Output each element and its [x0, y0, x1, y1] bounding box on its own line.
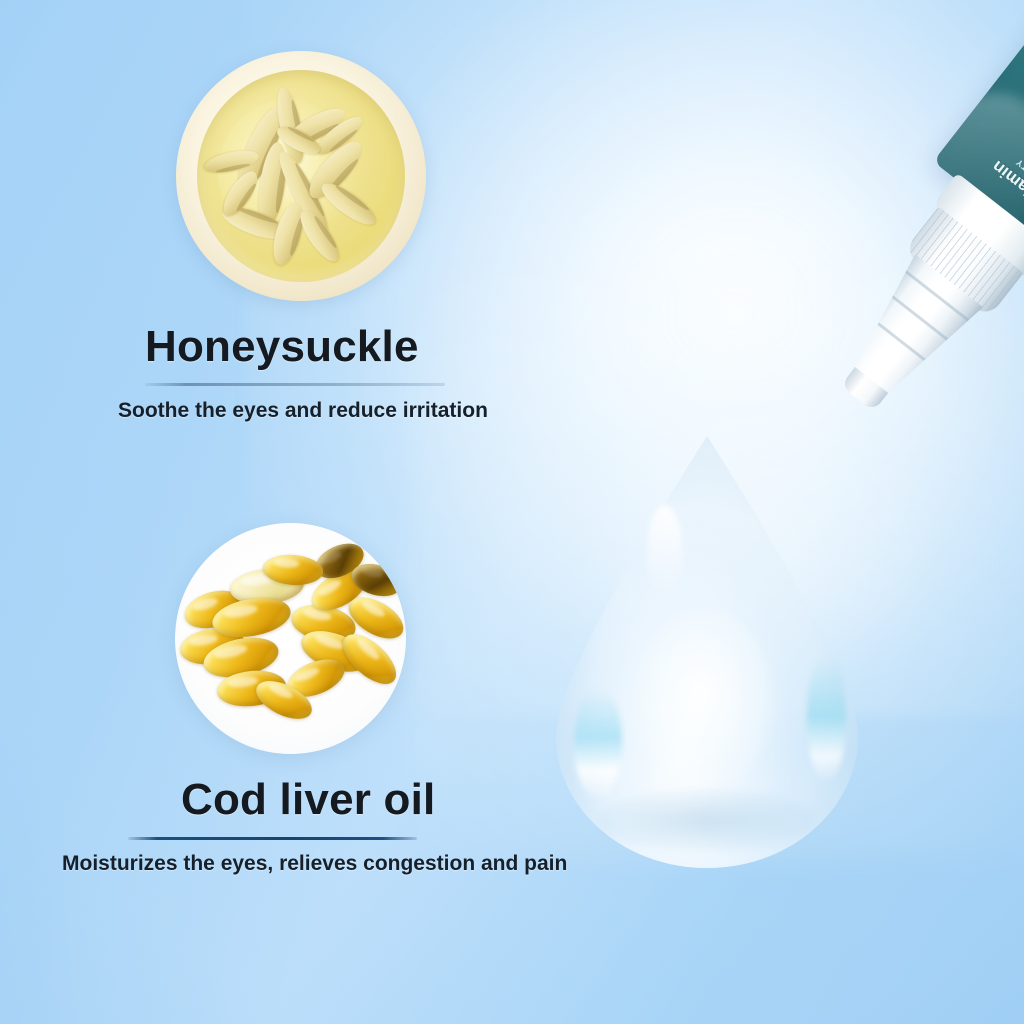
- water-droplet-image: [556, 436, 858, 868]
- ingredient-subtitle: Soothe the eyes and reduce irritation: [118, 399, 488, 423]
- ingredient-block-cod-liver-oil: Cod liver oil Moisturizes the eyes, reli…: [181, 778, 567, 876]
- product-infographic-poster: Honeysuckle Soothe the eyes and reduce i…: [0, 0, 1024, 1024]
- ingredient-divider: [128, 837, 417, 840]
- droplet-core-highlight: [635, 609, 774, 790]
- honeysuckle-bowl-image: [176, 51, 426, 301]
- droplet-base-shadow: [598, 790, 815, 850]
- ingredient-block-honeysuckle: Honeysuckle Soothe the eyes and reduce i…: [145, 325, 488, 423]
- cod-liver-oil-capsules-image: [175, 523, 406, 754]
- honeysuckle-liquid: [197, 70, 405, 283]
- ingredient-subtitle: Moisturizes the eyes, relieves congestio…: [62, 852, 567, 876]
- ingredient-title: Honeysuckle: [145, 325, 488, 369]
- droplet-highlight-left: [574, 687, 622, 799]
- droplet-highlight-right: [807, 652, 846, 782]
- ingredient-title: Cod liver oil: [181, 778, 567, 822]
- ingredient-divider: [145, 383, 445, 386]
- droplet-specular: [647, 505, 683, 600]
